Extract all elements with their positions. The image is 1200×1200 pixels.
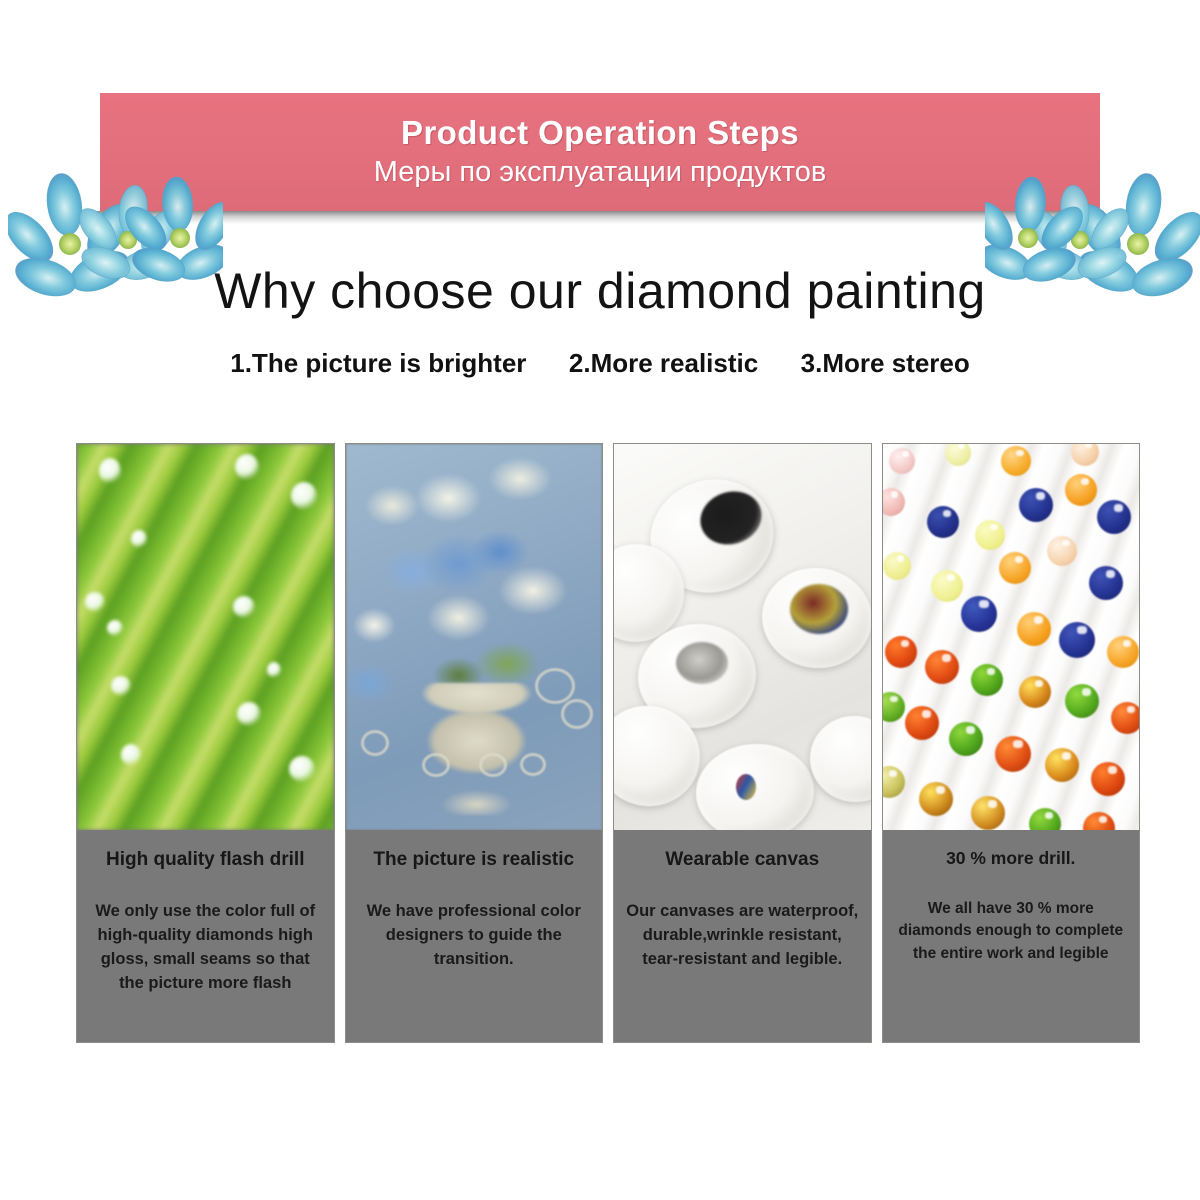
card-title: 30 % more drill. xyxy=(893,848,1130,870)
card-title: High quality flash drill xyxy=(87,848,324,872)
banner-title-english: Product Operation Steps xyxy=(401,115,799,152)
card-caption: High quality flash drill We only use the… xyxy=(77,830,334,1042)
banner-text-group: Product Operation Steps Меры по эксплуат… xyxy=(100,93,1100,211)
page-title: Why choose our diamond painting xyxy=(0,262,1200,320)
card-body-text: We only use the color full of high-quali… xyxy=(87,900,324,996)
floral-still-life-painting-photo xyxy=(346,444,603,830)
benefit-item-3: 3.More stereo xyxy=(801,348,970,379)
feature-card-high-quality-flash-drill[interactable]: High quality flash drill We only use the… xyxy=(76,443,335,1043)
feature-card-picture-is-realistic[interactable]: The picture is realistic We have profess… xyxy=(345,443,604,1043)
card-caption: The picture is realistic We have profess… xyxy=(346,830,603,1042)
feature-card-grid: High quality flash drill We only use the… xyxy=(76,443,1140,1043)
card-caption: 30 % more drill. We all have 30 % more d… xyxy=(883,830,1140,1042)
card-body-text: Our canvases are waterproof, durable,wri… xyxy=(624,900,861,972)
green-diamond-drills-photo xyxy=(77,444,334,830)
benefit-item-2: 2.More realistic xyxy=(569,348,758,379)
benefit-item-1: 1.The picture is brighter xyxy=(230,348,526,379)
banner-title-russian: Меры по эксплуатации продуктов xyxy=(374,155,827,190)
benefits-list: 1.The picture is brighter 2.More realist… xyxy=(0,348,1200,379)
colored-rhinestones-photo xyxy=(883,444,1140,830)
card-caption: Wearable canvas Our canvases are waterpr… xyxy=(614,830,871,1042)
card-title: Wearable canvas xyxy=(624,848,861,872)
card-title: The picture is realistic xyxy=(356,848,593,872)
feature-card-30-percent-more-drill[interactable]: 30 % more drill. We all have 30 % more d… xyxy=(882,443,1141,1043)
feature-card-wearable-canvas[interactable]: Wearable canvas Our canvases are waterpr… xyxy=(613,443,872,1043)
card-body-text: We all have 30 % more diamonds enough to… xyxy=(893,898,1130,965)
header-banner: Product Operation Steps Меры по эксплуат… xyxy=(0,88,1200,218)
card-body-text: We have professional color designers to … xyxy=(356,900,593,972)
rolled-canvas-tubes-photo xyxy=(614,444,871,830)
